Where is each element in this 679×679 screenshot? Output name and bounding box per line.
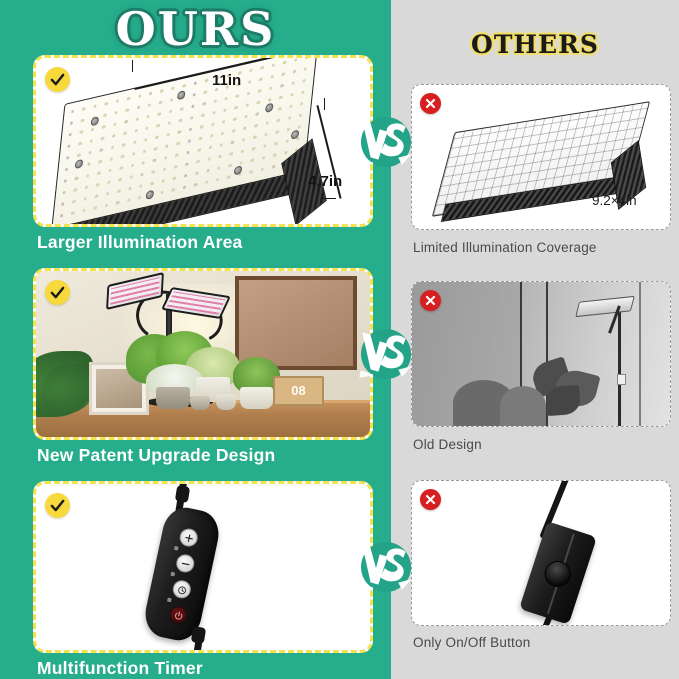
ours-card-multifunction-timer[interactable] [33,481,373,653]
ours-title: OURS [0,2,391,56]
power-icon [172,609,185,622]
led-diode [111,146,115,150]
old-lamp-head [575,296,635,317]
scene-pot-tiny [190,396,210,411]
led-diode [127,198,131,202]
led-diode [101,137,105,141]
led-diode [264,133,268,137]
panel-screw [75,159,83,169]
led-diode [195,171,199,175]
dimension-label-width: 11in [212,72,241,89]
old-scene-grass-2 [500,386,546,426]
room-scene-photo: 08 [36,271,370,437]
led-diode [255,112,259,116]
led-diode [158,112,162,116]
led-diode [289,104,293,108]
led-diode [164,156,168,160]
led-diode [107,180,111,184]
led-diode [151,170,155,174]
led-diode [163,167,167,171]
led-diode [184,174,188,178]
close-icon [424,493,437,506]
led-diode [85,185,89,189]
dimension-tick-c [322,198,336,199]
ours-card-illumination-area[interactable]: 11in 4.7in [33,55,373,227]
led-diode [245,103,249,107]
old-lamp-inline-switch [617,374,626,385]
led-diode [130,164,134,168]
comparison-infographic: OURS OTHERS 11in 4.7in Larger Illuminati… [0,0,679,679]
led-diode [66,156,70,160]
indicator-led-3 [167,598,171,602]
led-diode [169,110,173,114]
led-diode [75,176,79,180]
led-diode [292,70,296,74]
led-diode [60,214,64,218]
led-diode [108,169,112,173]
x-badge [420,290,441,311]
led-diode [161,179,165,183]
led-diode [91,128,95,132]
others-label-on-off-button: Only On/Off Button [413,635,530,650]
led-diode [127,97,131,101]
led-diode [182,185,186,189]
check-icon [49,71,66,88]
led-diode [239,161,243,165]
led-diode [211,122,215,126]
led-diode [159,101,163,105]
panel-screw [146,190,154,200]
led-diode [145,126,149,130]
led-diode [182,84,186,88]
led-diode [105,203,109,207]
led-diode [302,79,306,83]
vs-badge-row-1 [357,113,415,171]
led-diode [193,81,197,85]
led-diode [118,178,122,182]
dimension-tick-a [132,60,133,72]
on-off-switch-body[interactable] [519,521,597,625]
indicator-led-2 [171,572,175,576]
led-diode [231,140,235,144]
ours-label-new-patent-design: New Patent Upgrade Design [37,445,275,466]
led-diode [304,67,308,71]
controller-strain-relief-top [175,485,190,503]
led-diode [190,116,194,120]
led-diode [102,125,106,129]
ours-card-new-patent-design[interactable]: 08 [33,268,373,440]
led-diode [116,201,120,205]
timer-button[interactable] [171,579,192,600]
led-diode [140,173,144,177]
led-diode [221,131,225,135]
led-diode [86,174,90,178]
led-diode [78,142,82,146]
power-button[interactable] [168,604,189,625]
led-diode [278,107,282,111]
led-diode [218,155,222,159]
led-diode [186,151,190,155]
led-diode [115,99,119,103]
vs-badge-row-2 [357,325,415,383]
check-icon [49,284,66,301]
led-diode [259,77,263,81]
led-diode [82,107,86,111]
led-diode [205,180,209,184]
led-diode [132,152,136,156]
ours-label-multifunction-timer: Multifunction Timer [37,658,203,679]
led-diode [229,152,233,156]
led-diode [228,164,232,168]
led-diode [223,108,227,112]
led-diode [124,120,128,124]
led-diode [149,92,153,96]
led-diode [212,111,216,115]
led-diode [285,139,289,143]
scene-pot-stone [156,387,189,409]
controller-strain-relief-bottom [191,626,206,644]
others-label-old-design: Old Design [413,437,482,452]
others-card-illumination-coverage[interactable]: 9.2×4in [411,84,671,230]
led-diode [189,128,193,132]
led-diode [174,165,178,169]
led-diode [83,197,87,201]
led-diode [247,92,251,96]
led-diode [236,94,240,98]
check-icon [49,497,66,514]
others-title: OTHERS [391,30,679,59]
led-diode [148,103,152,107]
on-off-switch-illustration [412,481,670,625]
led-diode [62,191,66,195]
led-diode [87,162,91,166]
led-diode [153,158,157,162]
led-diode [144,138,148,142]
led-diode [290,93,294,97]
led-diode [274,142,278,146]
timer-controller-illustration [36,484,370,650]
scene-pot-succulent [216,394,236,411]
led-diode [71,211,75,215]
led-diode [233,117,237,121]
led-diode [129,175,133,179]
scene-desk-calendar: 08 [273,376,324,407]
old-design-photo [412,282,670,426]
led-diode [103,113,107,117]
led-diode [248,80,252,84]
close-icon [424,97,437,110]
led-diode [282,61,286,65]
led-diode [201,113,205,117]
led-diode [142,161,146,165]
led-diode [272,165,276,169]
led-diode [106,192,110,196]
led-diode [271,63,275,67]
led-diode [77,153,81,157]
led-diode [90,139,94,143]
led-diode [133,140,137,144]
led-diode [254,124,258,128]
led-diode [270,75,274,79]
led-diode [288,116,292,120]
minus-icon [179,557,192,570]
led-diode [185,162,189,166]
x-badge [420,93,441,114]
led-diode [205,79,209,83]
led-diode [244,115,248,119]
led-diode [192,93,196,97]
led-diode [175,153,179,157]
led-diode [253,135,257,139]
others-label-illumination-coverage: Limited Illumination Coverage [413,240,597,255]
led-panel-illustration [36,58,370,224]
led-diode [155,135,159,139]
led-diode [196,160,200,164]
led-diode [268,98,272,102]
led-diode [165,144,169,148]
led-diode [294,58,298,62]
led-diode [137,106,141,110]
led-diode [286,128,290,132]
led-diode [59,225,63,227]
others-card-old-design[interactable] [411,281,671,427]
led-diode [114,111,118,115]
led-diode [139,184,143,188]
led-diode [257,101,261,105]
dimension-tick-b [324,98,325,110]
led-diode [146,115,150,119]
led-diode [167,121,171,125]
led-diode [80,130,84,134]
led-diode [138,196,142,200]
led-diode [68,133,72,137]
x-badge [420,489,441,510]
led-diode [176,142,180,146]
led-diode [200,125,204,129]
increase-button[interactable] [178,527,199,548]
led-diode [74,188,78,192]
led-diode [166,133,170,137]
others-card-on-off-button[interactable] [411,480,671,626]
led-diode [263,144,267,148]
led-diode [156,124,160,128]
led-diode [202,102,206,106]
led-diode [99,148,103,152]
led-diode [135,117,139,121]
led-diode [122,143,126,147]
ours-label-illumination-area: Larger Illumination Area [37,232,242,253]
check-badge [45,67,70,92]
led-diode [123,131,127,135]
led-diode [243,126,247,130]
led-diode [234,106,238,110]
led-diode [241,149,245,153]
scene-lamp-head-right-leds [167,291,225,314]
led-diode [249,68,253,72]
led-diode [171,86,175,90]
led-diode [138,94,142,98]
led-diode [81,119,85,123]
led-diode [305,56,309,60]
led-diode [97,171,101,175]
led-diode [207,157,211,161]
led-diode [242,138,246,142]
led-diode [171,188,175,192]
led-diode [93,104,97,108]
led-diode [273,153,277,157]
timer-controller-body[interactable] [141,504,223,645]
led-diode [269,86,273,90]
led-diode [198,137,202,141]
vs-badge-row-3 [357,538,415,596]
led-diode [65,167,69,171]
led-diode [265,121,269,125]
led-diode [208,146,212,150]
led-diode [125,108,129,112]
led-diode [279,95,283,99]
led-diode [191,104,195,108]
led-diode [119,166,123,170]
old-scene-frame-line-3 [639,282,641,426]
led-diode [206,169,210,173]
vs-icon [357,538,415,596]
led-diode [82,209,86,213]
led-diode [160,191,164,195]
led-diode [109,157,113,161]
led-diode [301,90,305,94]
led-diode [180,107,184,111]
led-diode [197,148,201,152]
dimension-label-size: 9.2×4in [592,193,637,208]
led-diode [210,134,214,138]
led-diode [275,130,279,134]
led-diode [203,90,207,94]
led-diode [232,129,236,133]
led-diode [128,187,132,191]
vs-icon [357,325,415,383]
led-diode [194,183,198,187]
decrease-button[interactable] [175,553,196,574]
scene-pot-round [240,387,273,409]
led-diode [213,99,217,103]
led-diode [281,72,285,76]
led-diode [154,147,158,151]
led-diode [112,134,116,138]
indicator-led-1 [174,546,178,550]
led-diode [224,97,228,101]
led-diode [134,129,138,133]
panel-screw [265,103,273,113]
led-diode [297,125,301,129]
led-diode [93,206,97,210]
led-diode [61,202,65,206]
vs-icon [357,113,415,171]
led-diode [117,189,121,193]
led-diode [67,144,71,148]
check-badge [45,280,70,305]
led-diode [70,121,74,125]
led-diode [284,151,288,155]
led-diode [216,178,220,182]
led-diode [222,120,226,124]
led-diode [72,200,76,204]
led-diode [249,170,253,174]
led-diode [187,139,191,143]
close-icon [424,294,437,307]
timer-icon [175,583,188,596]
led-diode [252,147,256,151]
led-diode [300,102,304,106]
led-diode [280,84,284,88]
led-diode [88,151,92,155]
led-diode [276,119,280,123]
led-diode [113,122,117,126]
led-diode [299,113,303,117]
led-diode [95,194,99,198]
dimension-label-depth: 4.7in [308,173,342,190]
led-diode [250,158,254,162]
led-diode [177,130,181,134]
led-diode [260,66,264,70]
led-diode [170,98,174,102]
led-diode [260,167,264,171]
led-diode [71,110,75,114]
led-diode [227,175,231,179]
led-diode [96,183,100,187]
led-diode [143,149,147,153]
plus-icon [182,531,195,544]
old-scene-leaf-3 [545,385,580,416]
on-off-button[interactable] [541,558,574,591]
check-badge [45,493,70,518]
led-diode [262,156,266,160]
led-diode [179,119,183,123]
led-diode [150,182,154,186]
led-diode [217,166,221,170]
led-diode [121,155,125,159]
led-diode [98,160,102,164]
led-diode [64,179,68,183]
led-diode [173,176,177,180]
led-diode [160,89,164,93]
scene-wall-art [235,276,357,370]
panel-screw [91,116,99,126]
led-diode [104,102,108,106]
led-diode [258,89,262,93]
led-diode [291,81,295,85]
led-diode [220,143,224,147]
old-lamp-pole [618,308,621,426]
